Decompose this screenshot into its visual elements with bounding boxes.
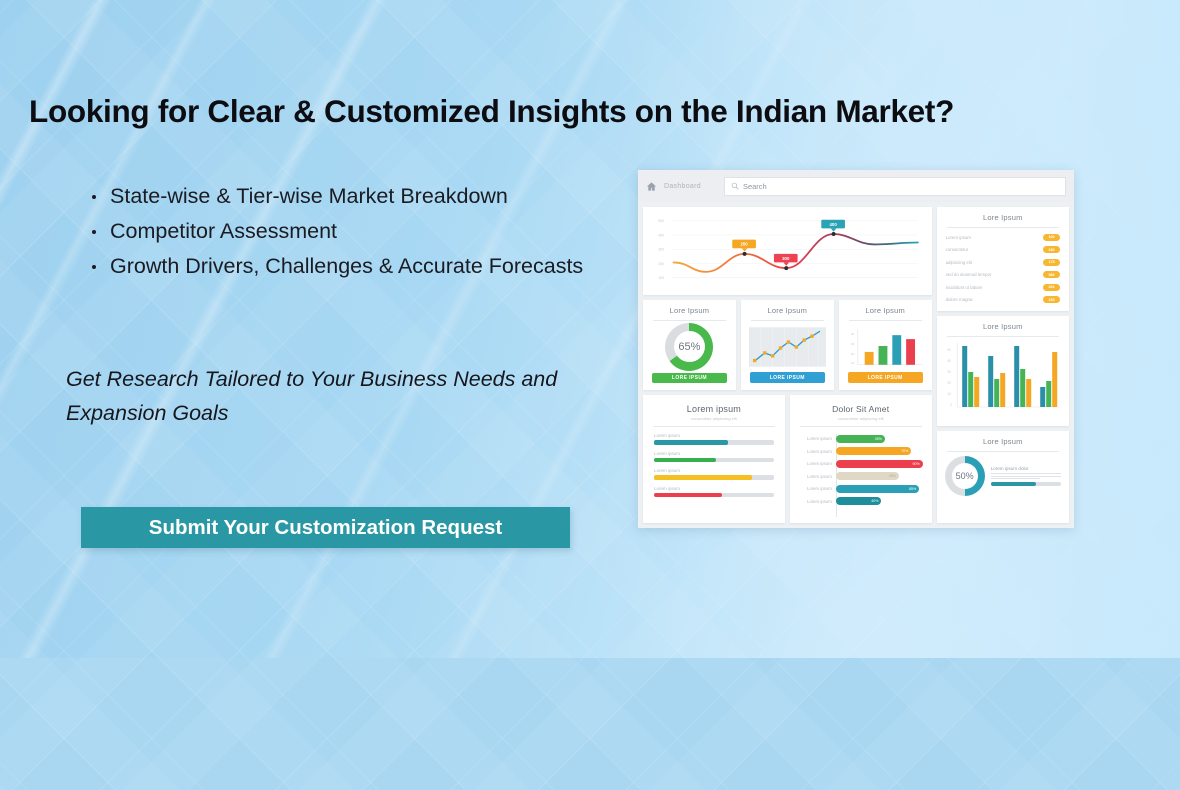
svg-text:100: 100	[658, 276, 664, 280]
hbar-track: 45%	[836, 472, 924, 480]
hbar-value: 45%	[889, 474, 896, 478]
dashboard-topbar: Dashboard Search	[638, 170, 1074, 202]
hbar-track: 85%	[836, 485, 924, 493]
hbar-track: 35%	[836, 435, 924, 443]
hbar-fill: 35%	[836, 435, 885, 443]
progress-fill	[654, 475, 752, 480]
svg-text:400: 400	[829, 222, 837, 227]
mini-bar-svg: 4030 2010	[845, 325, 926, 369]
breadcrumb: Dashboard	[664, 183, 701, 190]
svg-text:250: 250	[740, 242, 748, 247]
table-row: incididunt ut labore 204	[937, 284, 1069, 291]
row-label: Lorem ipsum	[946, 235, 971, 240]
tooltip-400: 400	[821, 220, 845, 232]
progress-fill	[654, 458, 716, 463]
mini-line-svg	[747, 325, 828, 369]
svg-text:50: 50	[947, 348, 951, 352]
panel-title: Lorem ipsum	[643, 395, 785, 414]
table-row: adipiscing elit 175	[937, 259, 1069, 266]
search-input[interactable]: Search	[724, 177, 1066, 196]
list-item: Growth Drivers, Challenges & Accurate Fo…	[84, 249, 604, 284]
svg-text:500: 500	[658, 219, 664, 223]
card-title: Lore Ipsum	[839, 300, 932, 315]
panel-subtitle: consectetur adipiscing elit	[643, 414, 785, 421]
status-badge: 165	[1043, 296, 1060, 303]
svg-text:20: 20	[851, 351, 855, 355]
progress-label: Lorem ipsum	[654, 433, 774, 438]
dashboard-side-column: Lore Ipsum Lorem ipsum 100 consectetur 2…	[937, 207, 1069, 523]
table-row: sed do eiusmod tempor 380	[937, 271, 1069, 278]
content-column: Looking for Clear & Customized Insights …	[0, 0, 640, 658]
status-badge: 175	[1043, 259, 1060, 266]
divider	[653, 426, 775, 427]
svg-text:300: 300	[658, 248, 664, 252]
lore-ipsum-button[interactable]: LORE IPSUM	[652, 373, 727, 383]
list-item: Lorem ipsum 90%	[790, 460, 932, 468]
status-badge: 100	[1043, 234, 1060, 241]
grouped-bar-chart: 504030 20100	[937, 337, 1069, 417]
hbar-label: Lorem ipsum	[798, 461, 832, 466]
panel-title: Lore Ipsum	[937, 207, 1069, 222]
list-item: Lorem ipsum 40%	[790, 497, 932, 505]
bar-mini-card: Lore Ipsum 4030 2010	[839, 300, 932, 390]
hbar-value: 70%	[901, 449, 908, 453]
donut-caption-block: Lorem ipsum dolor	[991, 466, 1061, 486]
bullet-text: Growth Drivers, Challenges & Accurate Fo…	[110, 254, 583, 278]
hbar-fill: 40%	[836, 497, 882, 505]
hbar-value: 90%	[913, 462, 920, 466]
page-title: Looking for Clear & Customized Insights …	[29, 93, 1149, 130]
list-item: Competitor Assessment	[84, 214, 604, 249]
panel-subtitle: consectetur adipiscing elit	[790, 414, 932, 421]
lore-ipsum-button[interactable]: LORE IPSUM	[750, 372, 825, 383]
list-item: Lorem ipsum	[643, 451, 785, 463]
donut-row: 50% Lorem ipsum dolor	[937, 452, 1069, 496]
bullet-dot-icon	[92, 230, 96, 234]
list-item: State-wise & Tier-wise Market Breakdown	[84, 179, 604, 214]
progress-fill	[654, 493, 722, 498]
hbar-track: 70%	[836, 447, 924, 455]
donut-value: 50%	[956, 471, 974, 481]
svg-text:0: 0	[950, 403, 952, 407]
bullet-dot-icon	[92, 195, 96, 199]
tooltip-250: 250	[732, 240, 756, 252]
svg-text:10: 10	[947, 392, 951, 396]
hbar-fill: 70%	[836, 447, 912, 455]
table-row: Lorem ipsum 100	[937, 234, 1069, 241]
progress-track	[654, 440, 774, 445]
placeholder-lines	[991, 473, 1061, 479]
hbar-track: 90%	[836, 460, 924, 468]
hbar-label: Lorem ipsum	[798, 486, 832, 491]
row-label: sed do eiusmod tempor	[946, 272, 992, 277]
card-title: Lore Ipsum	[643, 300, 736, 315]
home-icon	[646, 181, 657, 192]
donut-ring: 50%	[945, 456, 985, 496]
submit-customization-request-button[interactable]: Submit Your Customization Request	[81, 507, 570, 548]
row-label: adipiscing elit	[946, 260, 972, 265]
progress-track	[654, 493, 774, 498]
line-mini-card: Lore Ipsum	[741, 300, 834, 390]
tooltip-300: 300	[774, 254, 798, 266]
hbar-track: 40%	[836, 497, 924, 505]
list-item: Lorem ipsum 35%	[790, 435, 932, 443]
mini-bar-chart: 4030 2010	[839, 321, 932, 372]
line-chart: 500 400 300 200 100	[647, 213, 924, 291]
bullet-text: Competitor Assessment	[110, 219, 337, 243]
progress-fill	[654, 440, 728, 445]
table-row: consectetur 240	[937, 246, 1069, 253]
progress-label: Lorem ipsum	[654, 468, 774, 473]
list-item: Lorem ipsum	[643, 468, 785, 480]
progress-track	[654, 475, 774, 480]
svg-text:30: 30	[947, 370, 951, 374]
line-chart-card: 500 400 300 200 100	[643, 207, 932, 295]
progress-track	[991, 482, 1061, 486]
search-placeholder: Search	[743, 182, 767, 191]
list-item: Lorem ipsum 70%	[790, 447, 932, 455]
dashboard-main-column: 500 400 300 200 100	[643, 207, 932, 523]
donut-panel: Lore Ipsum 50% Lorem ipsum dolor	[937, 431, 1069, 523]
svg-text:20: 20	[947, 381, 951, 385]
hbar-value: 40%	[871, 499, 878, 503]
list-item: Lorem ipsum 85%	[790, 485, 932, 493]
panel-title: Lore Ipsum	[937, 431, 1069, 446]
hbar-label: Lorem ipsum	[798, 436, 832, 441]
svg-text:400: 400	[658, 233, 664, 237]
svg-text:30: 30	[851, 342, 855, 346]
list-panel: Lore Ipsum Lorem ipsum 100 consectetur 2…	[937, 207, 1069, 311]
search-icon	[731, 182, 739, 190]
donut-ring: 65%	[665, 323, 713, 371]
donut-chart: 65%	[643, 321, 736, 373]
mini-line-chart	[741, 321, 834, 372]
status-badge: 380	[1043, 271, 1060, 278]
bullet-dot-icon	[92, 265, 96, 269]
list-item: Lorem ipsum	[643, 486, 785, 498]
group-bar-panel: Lore Ipsum 504030 20100	[937, 316, 1069, 426]
lore-ipsum-button[interactable]: LORE IPSUM	[848, 372, 923, 383]
svg-text:200: 200	[658, 262, 664, 266]
hbar-value: 85%	[909, 487, 916, 491]
dashboard-body: 500 400 300 200 100	[638, 202, 1074, 528]
hbar-panel: Dolor Sit Amet consectetur adipiscing el…	[790, 395, 932, 523]
feature-bullet-list: State-wise & Tier-wise Market Breakdown …	[84, 179, 604, 284]
donut-caption: Lorem ipsum dolor	[991, 466, 1061, 471]
donut-value: 65%	[678, 341, 700, 353]
mini-card-row: Lore Ipsum 65% LORE IPSUM Lore Ipsum	[643, 300, 932, 390]
donut-mini-card: Lore Ipsum 65% LORE IPSUM	[643, 300, 736, 390]
list-item: Lorem ipsum 45%	[790, 472, 932, 480]
hbar-fill: 90%	[836, 460, 923, 468]
hbar-fill: 45%	[836, 472, 899, 480]
hbar-value: 35%	[875, 437, 882, 441]
hbar-label: Lorem ipsum	[798, 474, 832, 479]
svg-text:40: 40	[851, 332, 855, 336]
progress-panel: Lorem ipsum consectetur adipiscing elit …	[643, 395, 785, 523]
hbar-label: Lorem ipsum	[798, 449, 832, 454]
bottom-panel-row: Lorem ipsum consectetur adipiscing elit …	[643, 395, 932, 523]
row-label: consectetur	[946, 247, 969, 252]
hbar-fill: 85%	[836, 485, 919, 493]
progress-label: Lorem ipsum	[654, 486, 774, 491]
row-label: incididunt ut labore	[946, 285, 983, 290]
progress-fill	[991, 482, 1036, 486]
progress-label: Lorem ipsum	[654, 451, 774, 456]
row-label: dolore magna	[946, 297, 973, 302]
svg-text:300: 300	[782, 256, 790, 261]
svg-text:40: 40	[947, 359, 951, 363]
divider	[947, 227, 1059, 228]
list-item: Lorem ipsum	[643, 433, 785, 445]
status-badge: 240	[1043, 246, 1060, 253]
card-title: Lore Ipsum	[741, 300, 834, 315]
table-row: dolore magna 165	[937, 296, 1069, 303]
panel-title: Lore Ipsum	[937, 316, 1069, 331]
progress-track	[654, 458, 774, 463]
dashboard-mockup: Dashboard Search 500	[638, 170, 1074, 528]
hbar-label: Lorem ipsum	[798, 499, 832, 504]
svg-text:10: 10	[851, 360, 855, 364]
panel-title: Dolor Sit Amet	[790, 395, 932, 414]
bullet-text: State-wise & Tier-wise Market Breakdown	[110, 184, 508, 208]
status-badge: 204	[1043, 284, 1060, 291]
tagline: Get Research Tailored to Your Business N…	[66, 362, 586, 430]
